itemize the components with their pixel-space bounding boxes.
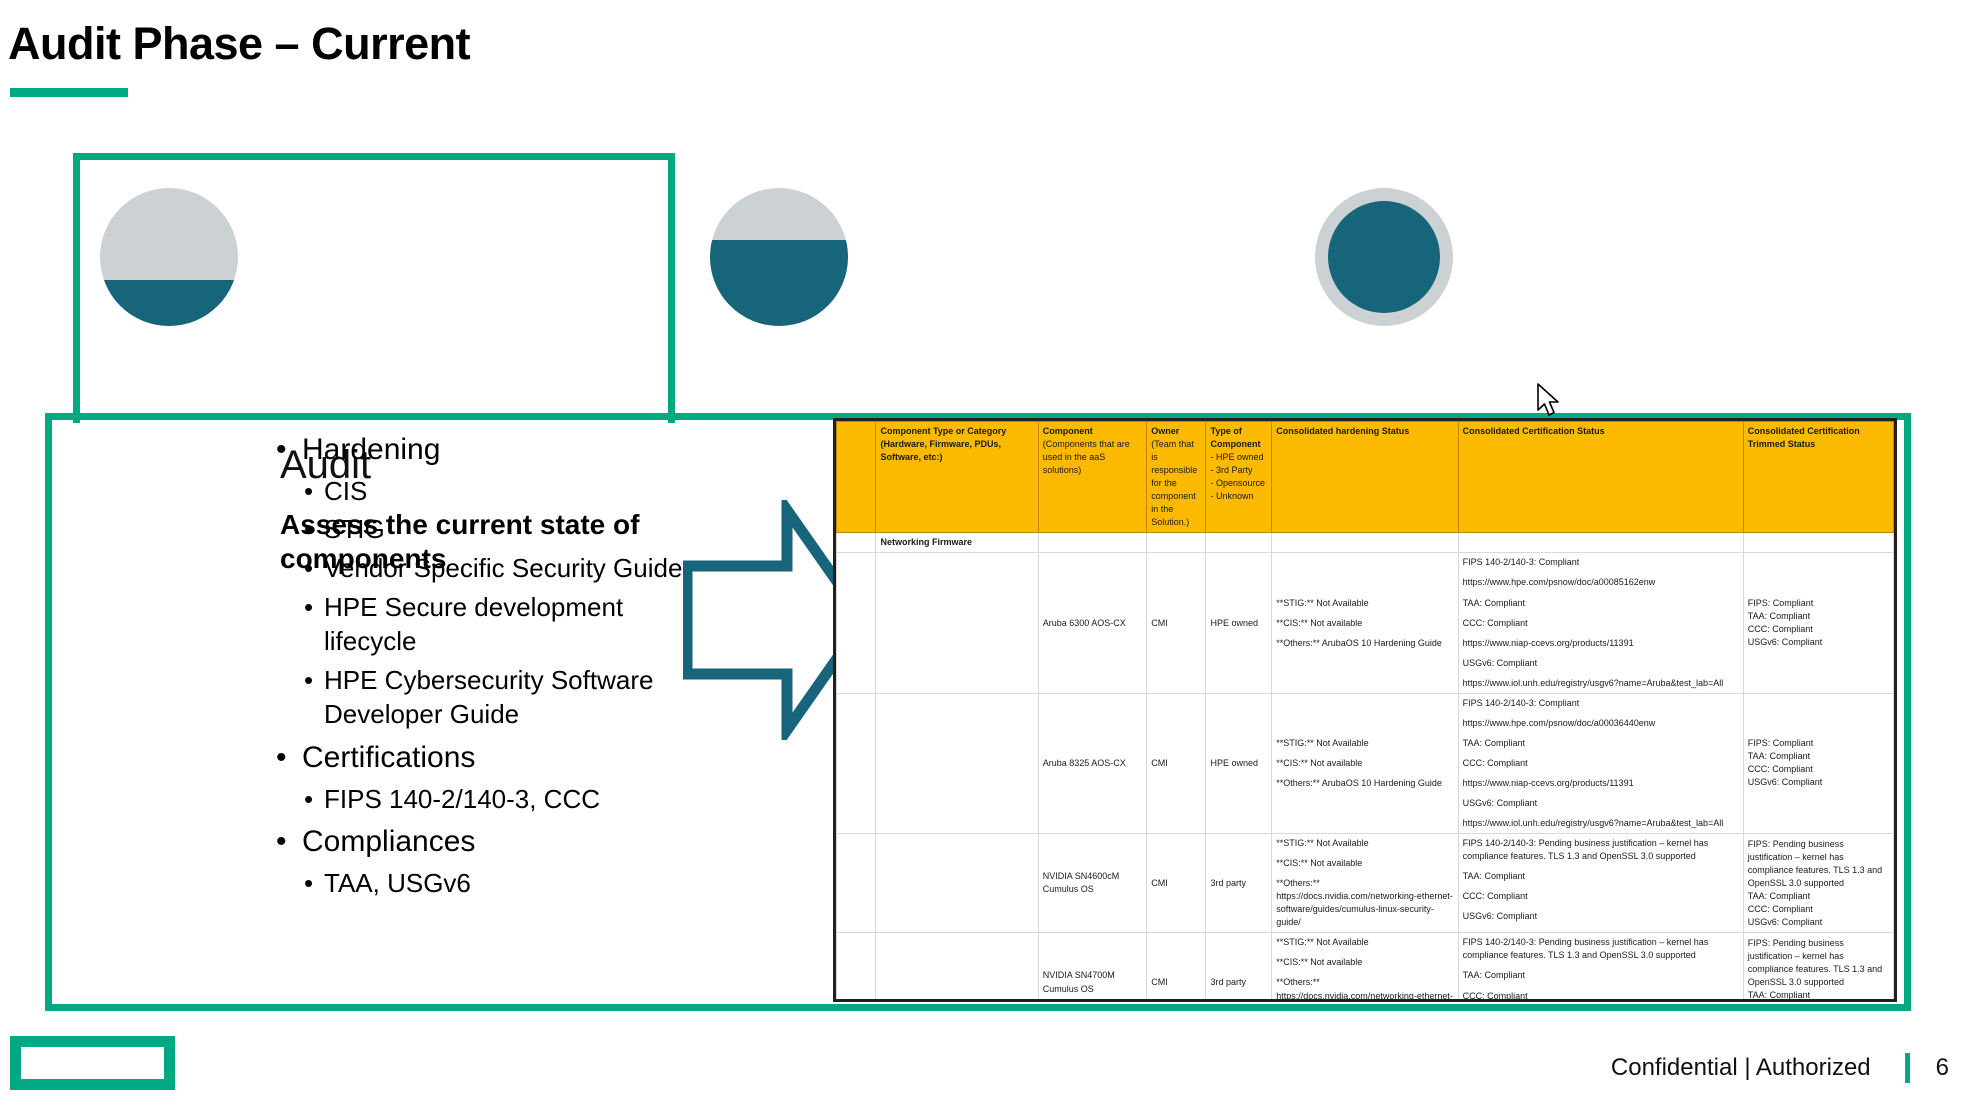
cell-empty[interactable] xyxy=(1272,533,1458,553)
list-item: •Certifications xyxy=(276,738,696,778)
cell-owner[interactable]: CMI xyxy=(1147,933,1206,1002)
spreadsheet-body: Networking FirmwareAruba 6300 AOS-CXCMIH… xyxy=(837,533,1894,1002)
audit-detail-list: •Hardening•CIS•STIG•Vendor Specific Secu… xyxy=(276,424,696,901)
cell-type-of-component[interactable]: HPE owned xyxy=(1206,553,1272,693)
list-item: •TAA, USGv6 xyxy=(304,866,696,901)
spreadsheet-header-row: Component Type or Category (Hardware, Fi… xyxy=(837,422,1894,533)
bullet-dot-icon: • xyxy=(276,822,302,862)
progress-circle-two-thirds-icon xyxy=(710,188,848,326)
cell-certification-status[interactable]: FIPS 140-2/140-3: Pending business justi… xyxy=(1458,933,1743,1002)
cell-index[interactable] xyxy=(837,933,876,1002)
table-row[interactable]: Networking Firmware xyxy=(837,533,1894,553)
progress-circle-one-third-icon xyxy=(100,188,238,326)
bullet-dot-icon: • xyxy=(304,663,324,732)
bullet-dot-icon: • xyxy=(304,590,324,659)
list-item-label: TAA, USGv6 xyxy=(324,866,471,901)
col-header-owner[interactable]: Owner (Team that is responsible for the … xyxy=(1147,422,1206,533)
list-item: •FIPS 140-2/140-3, CCC xyxy=(304,782,696,817)
cell-empty[interactable] xyxy=(1458,533,1743,553)
list-item-label: Hardening xyxy=(302,430,440,470)
cell-owner[interactable]: CMI xyxy=(1147,693,1206,833)
cell-hardening-status[interactable]: **STIG:** Not Available**CIS:** Not avai… xyxy=(1272,834,1458,933)
cell-certification-status[interactable]: FIPS 140-2/140-3: Pending business justi… xyxy=(1458,834,1743,933)
cell-hardening-status[interactable]: **STIG:** Not Available**CIS:** Not avai… xyxy=(1272,693,1458,833)
cell-type-of-component[interactable]: HPE owned xyxy=(1206,693,1272,833)
col-header-hardening-status[interactable]: Consolidated hardening Status xyxy=(1272,422,1458,533)
cell-hardening-status[interactable]: **STIG:** Not Available**CIS:** Not avai… xyxy=(1272,553,1458,693)
list-item: •Vendor Specific Security Guides xyxy=(304,551,696,586)
table-row[interactable]: Aruba 6300 AOS-CXCMIHPE owned**STIG:** N… xyxy=(837,553,1894,693)
col-header-index[interactable] xyxy=(837,422,876,533)
footer-confidentiality-text: Confidential | Authorized xyxy=(1611,1054,1871,1082)
cell-empty[interactable] xyxy=(1743,533,1893,553)
cell-type-of-component[interactable]: 3rd party xyxy=(1206,933,1272,1002)
list-item: •Hardening xyxy=(276,430,696,470)
cell-empty[interactable] xyxy=(1147,533,1206,553)
cell-empty[interactable] xyxy=(1038,533,1147,553)
slide-footer: Confidential | Authorized 6 xyxy=(1611,1053,1949,1083)
bullet-dot-icon: • xyxy=(304,866,324,901)
col-header-type-of-component[interactable]: Type of Component - HPE owned - 3rd Part… xyxy=(1206,422,1272,533)
col-header-component[interactable]: Component (Components that are used in t… xyxy=(1038,422,1147,533)
cell-certification-status[interactable]: FIPS 140-2/140-3: Complianthttps://www.h… xyxy=(1458,693,1743,833)
cell-component[interactable]: Aruba 6300 AOS-CX xyxy=(1038,553,1147,693)
cell-component[interactable]: NVIDIA SN4700M Cumulus OS xyxy=(1038,933,1147,1002)
footer-page-number: 6 xyxy=(1936,1054,1949,1082)
cell-owner[interactable]: CMI xyxy=(1147,834,1206,933)
col-header-certification-trimmed-status[interactable]: Consolidated Certification Trimmed Statu… xyxy=(1743,422,1893,533)
list-item: •STIG xyxy=(304,512,696,547)
list-item-label: HPE Cybersecurity Software Developer Gui… xyxy=(324,663,696,732)
bullet-dot-icon: • xyxy=(304,474,324,509)
cell-component-type[interactable] xyxy=(876,693,1038,833)
bullet-dot-icon: • xyxy=(304,551,324,586)
hpe-logo xyxy=(10,1036,175,1090)
cell-component-type[interactable] xyxy=(876,933,1038,1002)
cell-certification-trimmed-status[interactable]: FIPS: Pending business justification – k… xyxy=(1743,933,1893,1002)
list-item-label: Vendor Specific Security Guides xyxy=(324,551,695,586)
title-underline-rule xyxy=(10,88,128,97)
list-item: •CIS xyxy=(304,474,696,509)
cell-certification-trimmed-status[interactable]: FIPS: CompliantTAA: CompliantCCC: Compli… xyxy=(1743,693,1893,833)
table-row[interactable]: Aruba 8325 AOS-CXCMIHPE owned**STIG:** N… xyxy=(837,693,1894,833)
cell-category-label[interactable]: Networking Firmware xyxy=(876,533,1038,553)
cell-index[interactable] xyxy=(837,553,876,693)
list-item-label: STIG xyxy=(324,512,385,547)
component-audit-spreadsheet[interactable]: Component Type or Category (Hardware, Fi… xyxy=(833,418,1897,1002)
cell-index[interactable] xyxy=(837,834,876,933)
list-item-label: HPE Secure development lifecycle xyxy=(324,590,696,659)
spreadsheet-table: Component Type or Category (Hardware, Fi… xyxy=(836,421,1894,1002)
cell-component[interactable]: NVIDIA SN4600cM Cumulus OS xyxy=(1038,834,1147,933)
cell-certification-trimmed-status[interactable]: FIPS: CompliantTAA: CompliantCCC: Compli… xyxy=(1743,553,1893,693)
table-row[interactable]: NVIDIA SN4600cM Cumulus OSCMI3rd party**… xyxy=(837,834,1894,933)
footer-divider xyxy=(1905,1053,1910,1083)
bullet-dot-icon: • xyxy=(304,512,324,547)
list-item: •Compliances xyxy=(276,822,696,862)
cell-certification-status[interactable]: FIPS 140-2/140-3: Complianthttps://www.h… xyxy=(1458,553,1743,693)
table-row[interactable]: NVIDIA SN4700M Cumulus OSCMI3rd party**S… xyxy=(837,933,1894,1002)
cell-owner[interactable]: CMI xyxy=(1147,553,1206,693)
progress-circle-full-icon xyxy=(1315,188,1453,326)
list-item-label: FIPS 140-2/140-3, CCC xyxy=(324,782,600,817)
list-item-label: CIS xyxy=(324,474,367,509)
cell-empty[interactable] xyxy=(837,533,876,553)
cell-type-of-component[interactable]: 3rd party xyxy=(1206,834,1272,933)
bullet-dot-icon: • xyxy=(304,782,324,817)
cell-component[interactable]: Aruba 8325 AOS-CX xyxy=(1038,693,1147,833)
mouse-cursor-icon xyxy=(1536,383,1562,417)
cell-hardening-status[interactable]: **STIG:** Not Available**CIS:** Not avai… xyxy=(1272,933,1458,1002)
col-header-certification-status[interactable]: Consolidated Certification Status xyxy=(1458,422,1743,533)
col-header-component-type[interactable]: Component Type or Category (Hardware, Fi… xyxy=(876,422,1038,533)
list-item-label: Certifications xyxy=(302,738,475,778)
list-item: •HPE Cybersecurity Software Developer Gu… xyxy=(304,663,696,732)
page-title: Audit Phase – Current xyxy=(8,18,470,70)
cell-certification-trimmed-status[interactable]: FIPS: Pending business justification – k… xyxy=(1743,834,1893,933)
cell-component-type[interactable] xyxy=(876,553,1038,693)
list-item-label: Compliances xyxy=(302,822,475,862)
cell-component-type[interactable] xyxy=(876,834,1038,933)
cell-index[interactable] xyxy=(837,693,876,833)
bullet-dot-icon: • xyxy=(276,430,302,470)
list-item: •HPE Secure development lifecycle xyxy=(304,590,696,659)
bullet-dot-icon: • xyxy=(276,738,302,778)
cell-empty[interactable] xyxy=(1206,533,1272,553)
